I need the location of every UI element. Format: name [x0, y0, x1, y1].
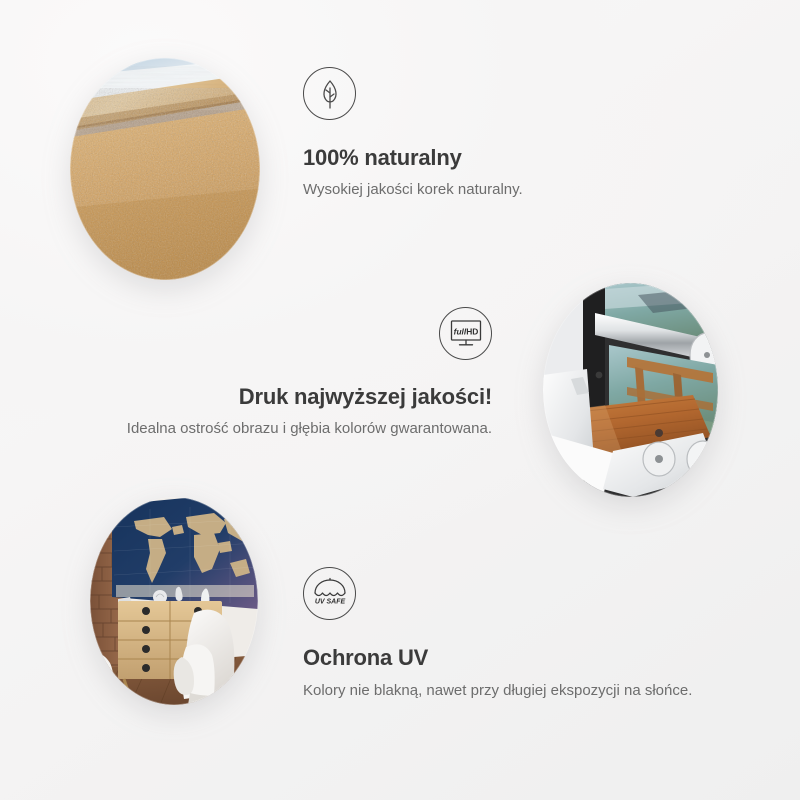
uv-safe-umbrella-icon: UV SAFE: [303, 567, 356, 620]
feature-description: Idealna ostrość obrazu i głębia kolorów …: [120, 418, 492, 440]
feature-block-print: fullHD Druk najwyższej jakości! Idealna …: [120, 307, 492, 440]
svg-text:fullHD: fullHD: [453, 326, 478, 336]
large-format-printer-photo: [543, 283, 718, 497]
feature-block-uv: UV SAFE Ochrona UV Kolory nie blakną, na…: [303, 567, 723, 702]
feature-description: Wysokiej jakości korek naturalny.: [303, 179, 633, 201]
leaf-icon: [303, 67, 356, 120]
feature-title: Druk najwyższej jakości!: [120, 384, 492, 410]
cork-board-closeup-photo: [70, 58, 260, 280]
interior-world-map-photo: [90, 497, 258, 705]
feature-title: 100% naturalny: [303, 145, 633, 171]
feature-title: Ochrona UV: [303, 645, 723, 671]
svg-text:UV SAFE: UV SAFE: [314, 598, 345, 605]
feature-description: Kolory nie blakną, nawet przy długiej ek…: [303, 680, 723, 702]
feature-block-natural: 100% naturalny Wysokiej jakości korek na…: [303, 67, 633, 201]
fullhd-monitor-icon: fullHD: [439, 307, 492, 360]
